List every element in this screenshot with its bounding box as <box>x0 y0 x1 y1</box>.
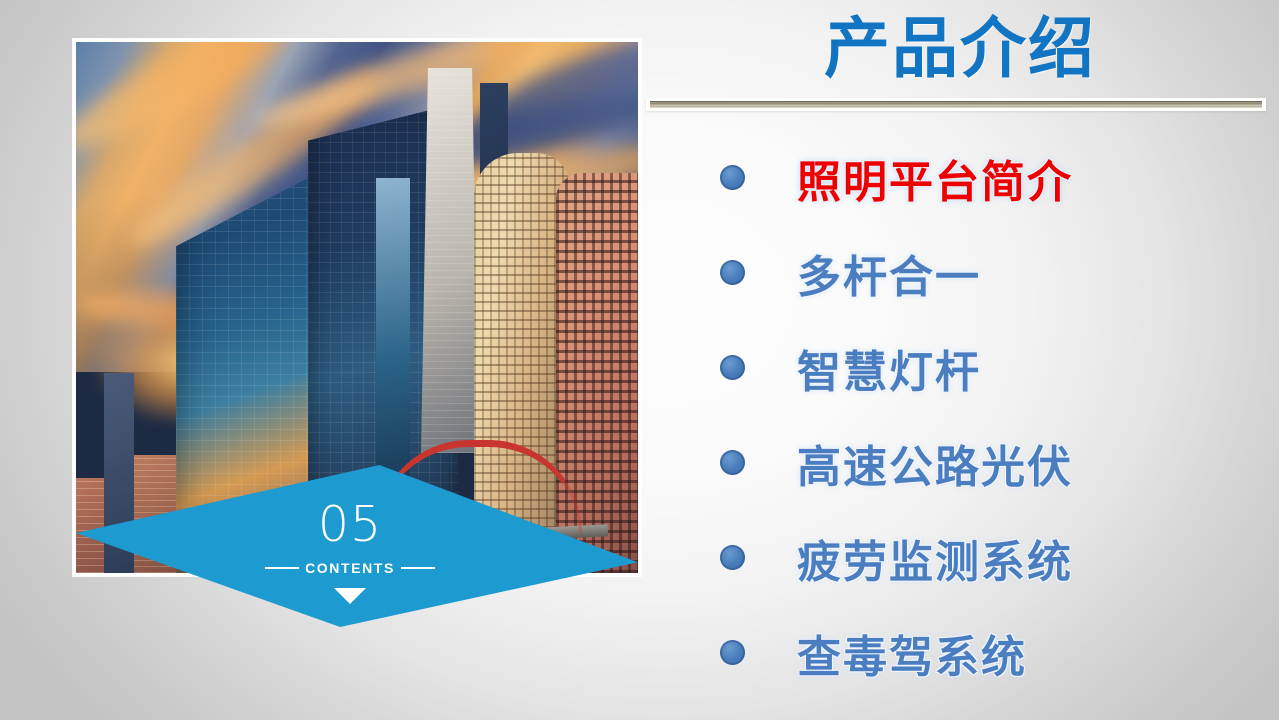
divider-inner-bar <box>650 101 1262 108</box>
presentation-slide: 05 CONTENTS 产品介绍 照明平台简介 多杆合一 智慧灯杆 高速公路光伏 <box>0 0 1279 720</box>
list-item[interactable]: 高速公路光伏 <box>660 415 1270 510</box>
contents-label: CONTENTS <box>305 560 395 576</box>
section-number: 05 <box>200 500 500 549</box>
list-item-label: 照明平台简介 <box>797 146 1073 210</box>
contents-list: 照明平台简介 多杆合一 智慧灯杆 高速公路光伏 疲劳监测系统 查毒驾系统 <box>660 130 1270 700</box>
list-item[interactable]: 照明平台简介 <box>660 130 1270 225</box>
bullet-dot-icon <box>720 260 745 285</box>
rule-left-icon <box>265 567 299 569</box>
list-item[interactable]: 查毒驾系统 <box>660 605 1270 700</box>
title-divider <box>646 98 1266 111</box>
page-title: 产品介绍 <box>660 8 1260 91</box>
building-tower <box>421 68 479 453</box>
bullet-dot-icon <box>720 450 745 475</box>
contents-label-row: CONTENTS <box>200 560 500 576</box>
list-item-label: 疲劳监测系统 <box>797 526 1073 590</box>
list-item-label: 多杆合一 <box>797 241 981 305</box>
rule-right-icon <box>401 567 435 569</box>
list-item-label: 高速公路光伏 <box>797 431 1073 495</box>
bullet-dot-icon <box>720 355 745 380</box>
building-tower <box>376 178 410 478</box>
list-item-label: 查毒驾系统 <box>797 621 1027 685</box>
list-item[interactable]: 智慧灯杆 <box>660 320 1270 415</box>
bullet-dot-icon <box>720 640 745 665</box>
triangle-down-icon <box>334 588 366 604</box>
contents-badge: 05 CONTENTS <box>200 500 500 604</box>
list-item[interactable]: 疲劳监测系统 <box>660 510 1270 605</box>
bullet-dot-icon <box>720 165 745 190</box>
bullet-dot-icon <box>720 545 745 570</box>
list-item-label: 智慧灯杆 <box>797 336 981 400</box>
list-item[interactable]: 多杆合一 <box>660 225 1270 320</box>
